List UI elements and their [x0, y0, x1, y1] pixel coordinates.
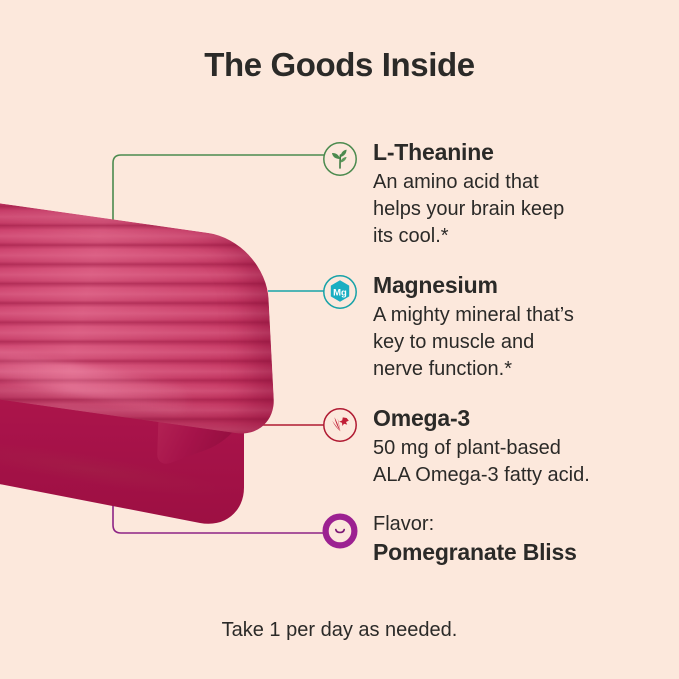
leaf-sprout-icon	[322, 141, 358, 177]
dosage-footnote: Take 1 per day as needed.	[0, 619, 679, 642]
flavor-value: Pomegranate Bliss	[373, 539, 577, 565]
fact-title-magnesium: Magnesium	[373, 274, 574, 297]
fact-row-magnesium: Mg Magnesium A mighty mineral that’s key…	[322, 274, 574, 382]
fact-title-theanine: L-Theanine	[373, 141, 564, 164]
fact-description-magnesium: A mighty mineral that’s key to muscle an…	[373, 302, 574, 382]
fact-description-omega: 50 mg of plant-based ALA Omega-3 fatty a…	[373, 435, 590, 488]
fact-row-flavor: Flavor: Pomegranate Bliss	[322, 513, 577, 565]
magnesium-hexagon-icon: Mg	[322, 274, 358, 310]
fact-body-omega: Omega-3 50 mg of plant-based ALA Omega-3…	[373, 407, 590, 489]
flavor-label: Flavor:	[373, 513, 577, 536]
fact-body-flavor: Flavor: Pomegranate Bliss	[373, 513, 577, 565]
fact-description-theanine: An amino acid that helps your brain keep…	[373, 169, 564, 249]
flax-seed-sprout-icon	[322, 407, 358, 443]
fact-title-omega: Omega-3	[373, 407, 590, 430]
product-image	[0, 196, 278, 491]
fact-body-magnesium: Magnesium A mighty mineral that’s key to…	[373, 274, 574, 382]
smiley-ring-icon	[322, 513, 358, 549]
fact-row-theanine: L-Theanine An amino acid that helps your…	[322, 141, 564, 249]
goods-inside-infographic: The Goods Inside L-Theanine	[0, 0, 679, 679]
page-title: The Goods Inside	[0, 46, 679, 84]
fact-body-theanine: L-Theanine An amino acid that helps your…	[373, 141, 564, 249]
magnesium-icon-label: Mg	[333, 288, 347, 299]
fact-row-omega: Omega-3 50 mg of plant-based ALA Omega-3…	[322, 407, 590, 489]
